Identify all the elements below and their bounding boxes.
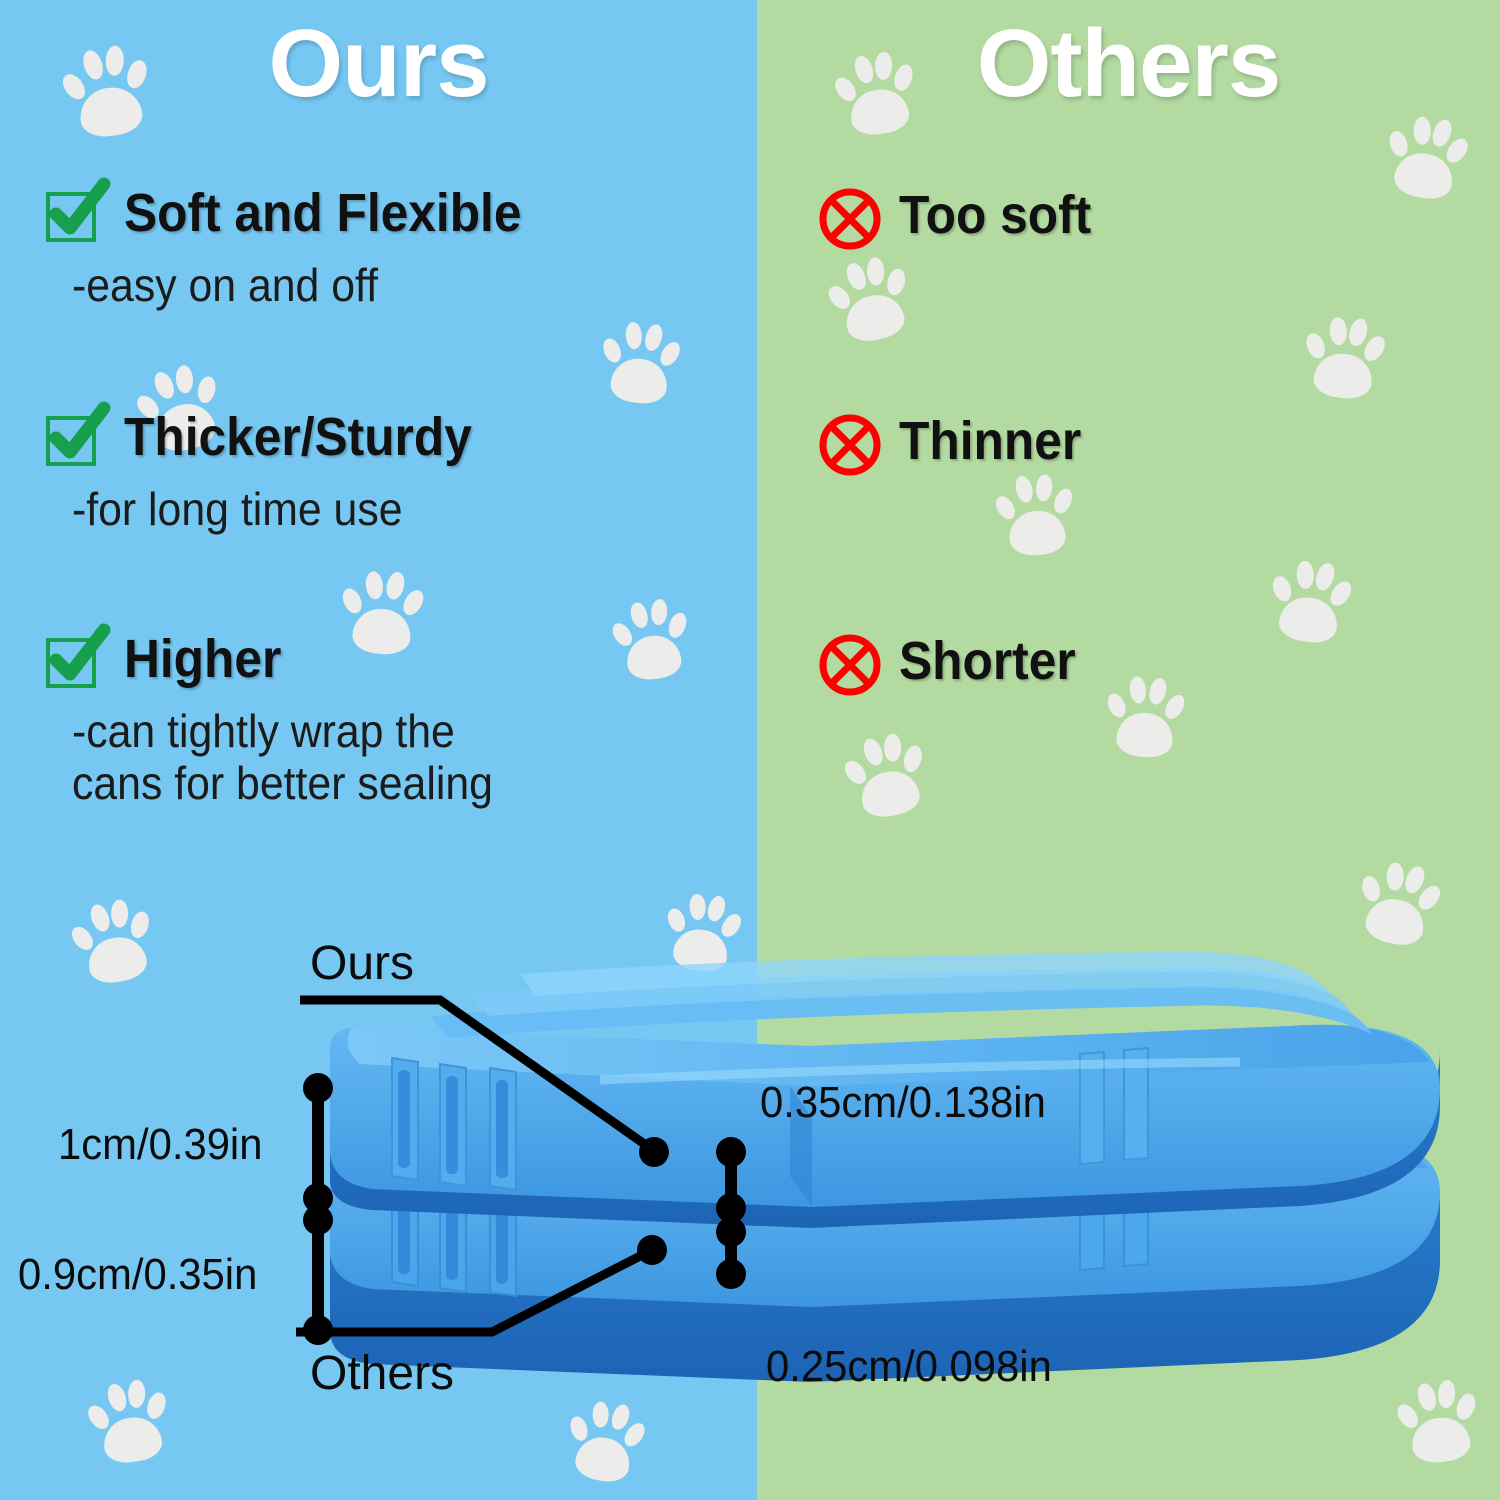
feature-title: Thicker/Sturdy	[124, 410, 472, 464]
drawback-thinner: Thinner	[819, 410, 1097, 472]
measurement-ours-height: 1cm/0.39in	[58, 1120, 262, 1170]
check-icon	[44, 406, 106, 468]
paw-print-icon	[596, 314, 687, 412]
measurement-others-height: 0.9cm/0.35in	[18, 1250, 257, 1300]
check-icon	[44, 628, 106, 690]
paw-print-icon	[1378, 105, 1477, 210]
feature-title: Higher	[124, 632, 281, 686]
feature-soft-and-flexible: Soft and Flexible -easy on and off	[44, 182, 556, 312]
feature-thicker-sturdy: Thicker/Sturdy -for long time use	[44, 406, 502, 536]
paw-print-icon	[992, 467, 1080, 563]
check-icon	[44, 182, 106, 244]
feature-subtitle: -easy on and off	[72, 260, 378, 312]
callout-ours-label: Ours	[310, 936, 414, 991]
drawback-title: Too soft	[899, 188, 1091, 242]
ours-title: Ours	[0, 16, 757, 112]
measurement-others-thickness: 0.25cm/0.098in	[766, 1342, 1052, 1392]
x-circle-icon	[819, 184, 881, 246]
callout-others-label: Others	[310, 1346, 454, 1401]
paw-print-icon	[1263, 551, 1359, 654]
paw-print-icon	[1298, 308, 1391, 408]
drawback-title: Shorter	[899, 634, 1076, 688]
product-photo: Ours Others 1cm/0.39in 0.9cm/0.35in 0.35…	[0, 930, 1500, 1500]
measurement-ours-thickness: 0.35cm/0.138in	[760, 1078, 1046, 1128]
feature-higher: Higher -can tightly wrap the cans for be…	[44, 628, 525, 809]
infographic-canvas: Ours Soft and Flexible -easy on and off	[0, 0, 1500, 1500]
others-title: Others	[757, 16, 1500, 112]
x-circle-icon	[819, 630, 881, 692]
drawback-too-soft: Too soft	[819, 184, 1108, 246]
drawback-title: Thinner	[899, 414, 1081, 468]
drawback-shorter: Shorter	[819, 630, 1091, 692]
x-circle-icon	[819, 410, 881, 472]
feature-subtitle: -for long time use	[72, 484, 403, 536]
paw-print-icon	[838, 723, 937, 828]
feature-subtitle: -can tightly wrap the cans for better se…	[72, 706, 493, 809]
feature-title: Soft and Flexible	[124, 186, 521, 240]
paw-print-icon	[820, 246, 921, 353]
paw-print-icon	[608, 592, 697, 688]
paw-print-icon	[1102, 669, 1190, 765]
